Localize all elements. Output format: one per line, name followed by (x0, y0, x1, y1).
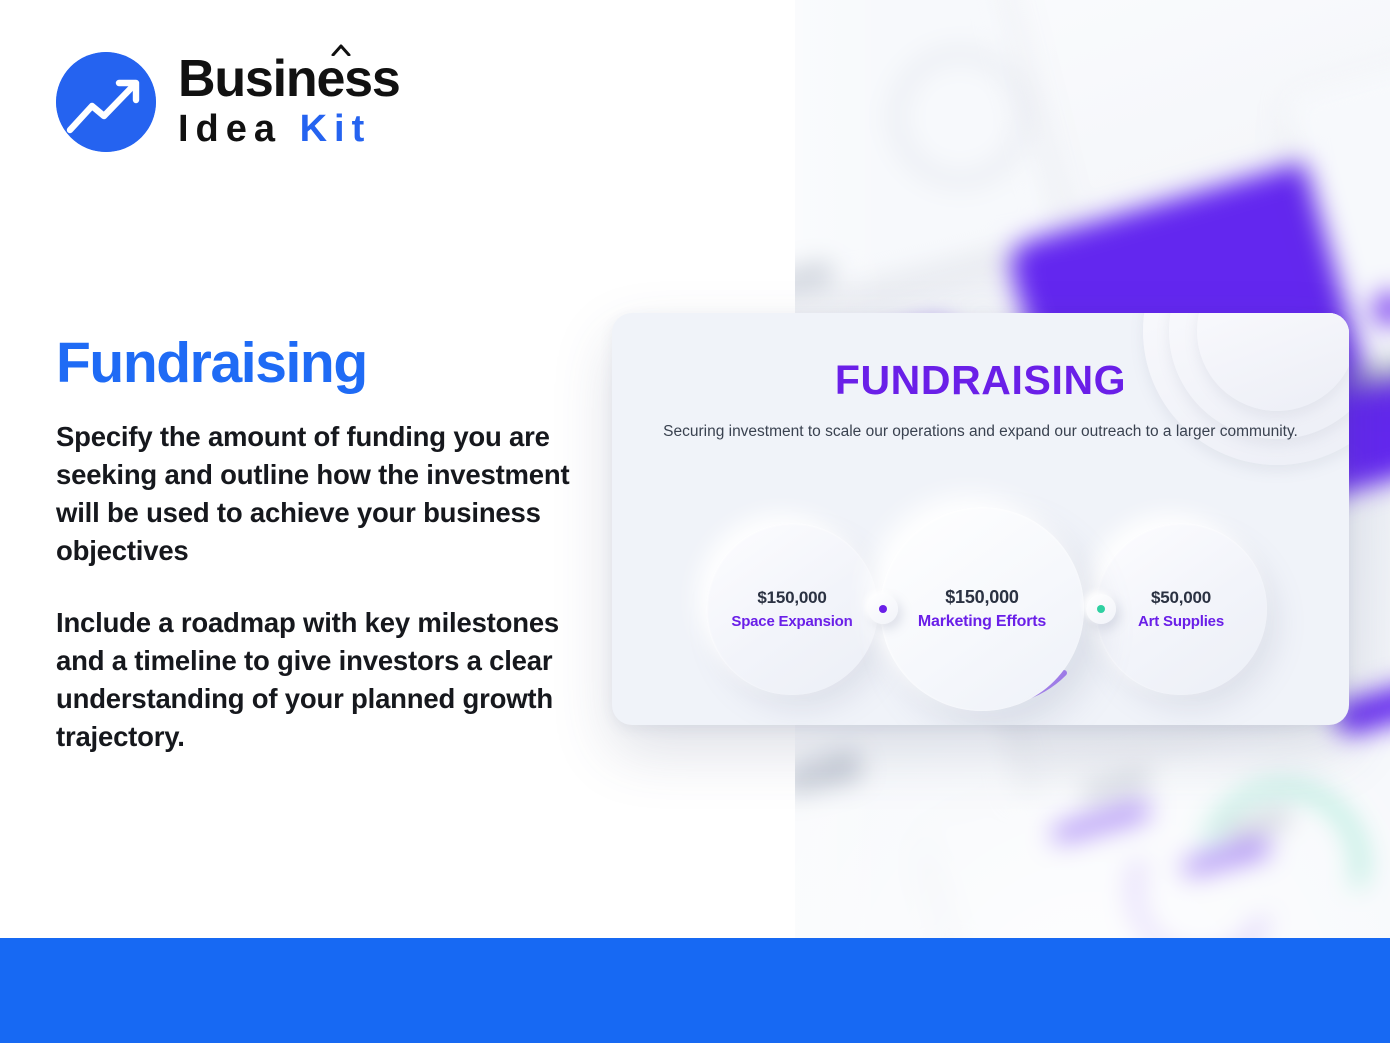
card-subtitle: Securing investment to scale our operati… (612, 421, 1349, 442)
card-title: FUNDRAISING (612, 357, 1349, 404)
connector-dot-teal-icon (1097, 605, 1105, 613)
funding-amount: $50,000 (1151, 588, 1211, 608)
body-copy: Specify the amount of funding you are se… (56, 418, 576, 756)
connector-dot-purple-icon (879, 605, 887, 613)
funding-allocation-diagram: $150,000 Space Expansion $150,000 Market… (612, 501, 1349, 725)
body-paragraph-1: Specify the amount of funding you are se… (56, 418, 576, 570)
funding-category: Marketing Efforts (918, 613, 1046, 631)
connector-node-right (1086, 594, 1116, 624)
funding-bubble-right[interactable]: $50,000 Art Supplies (1095, 523, 1267, 695)
connector-node-left (868, 594, 898, 624)
brand-wordmark: Business Idea Kit (178, 53, 400, 152)
fundraising-slide-card: FUNDRAISING Securing investment to scale… (612, 313, 1349, 725)
page-title: Fundraising (56, 334, 367, 394)
funding-bubble-center[interactable]: $150,000 Marketing Efforts (880, 507, 1084, 711)
funding-bubble-left[interactable]: $150,000 Space Expansion (706, 523, 878, 695)
brand-logo[interactable]: Business Idea Kit (56, 52, 400, 152)
brand-name-kit: Kit (300, 108, 372, 150)
brand-name-line2: Idea Kit (178, 110, 400, 148)
brand-name-idea: Idea (178, 108, 282, 150)
funding-amount: $150,000 (945, 587, 1018, 609)
footer-bar (0, 938, 1390, 1043)
growth-arrow-chart-icon (56, 52, 156, 152)
brand-name-line1: Business (178, 53, 400, 105)
brand-name-line1-text: Business (178, 50, 400, 108)
funding-category: Art Supplies (1138, 613, 1224, 630)
funding-amount: $150,000 (757, 588, 826, 608)
funding-category: Space Expansion (731, 613, 852, 630)
body-paragraph-2: Include a roadmap with key milestones an… (56, 604, 576, 756)
slide-page: Business Idea Kit Fundraising Specify th… (0, 0, 1390, 1043)
